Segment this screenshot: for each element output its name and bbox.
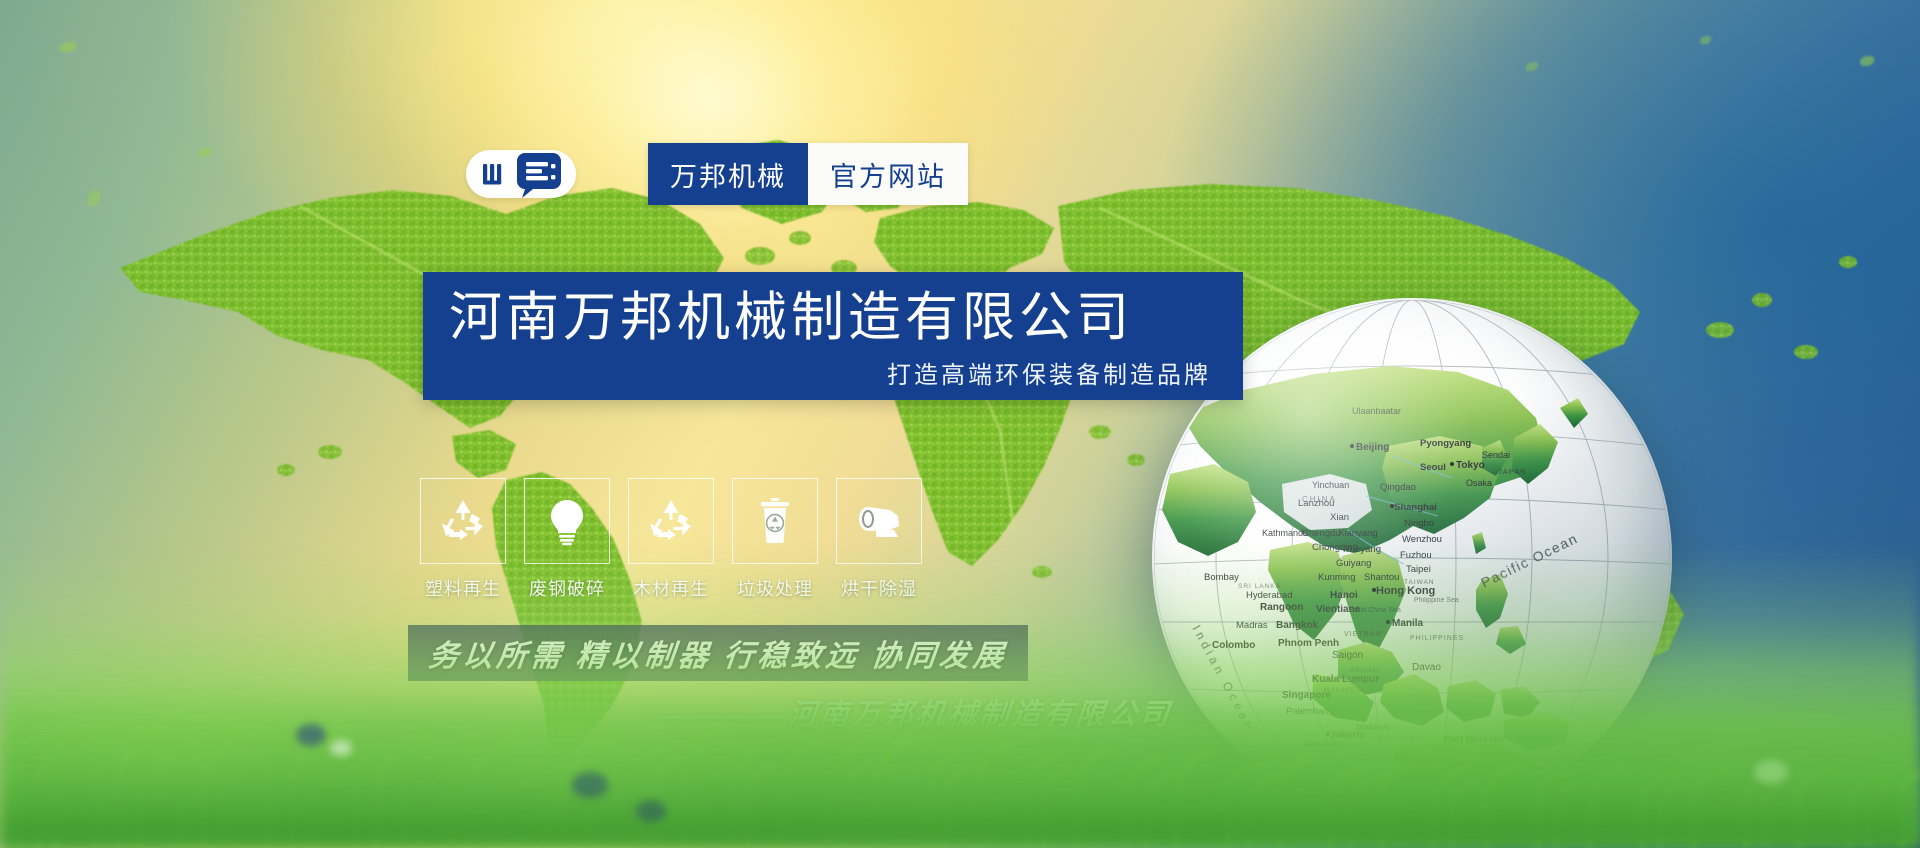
svg-text:Shanghai: Shanghai <box>1394 502 1437 513</box>
site-logo[interactable] <box>466 150 576 198</box>
bokeh-dot <box>330 740 352 756</box>
bokeh-dot <box>296 724 326 746</box>
hero-banner: CHINA Ulaanbaatar Beijing Pyongyang Seou… <box>0 0 1920 848</box>
svg-text:Qingdao: Qingdao <box>1380 482 1416 493</box>
bokeh-dot <box>1754 760 1788 784</box>
page-subtitle: 打造高端环保装备制造品牌 <box>423 347 1243 390</box>
svg-text:Sendai: Sendai <box>1482 450 1510 460</box>
top-navbar[interactable]: 万邦机械 官方网站 <box>648 143 968 205</box>
svg-text:Yinchuan: Yinchuan <box>1312 480 1349 490</box>
page-title: 河南万邦机械制造有限公司 <box>423 272 1243 347</box>
svg-text:JAPAN: JAPAN <box>1498 467 1527 476</box>
hero-title-panel: 河南万邦机械制造有限公司 打造高端环保装备制造品牌 <box>423 272 1243 400</box>
speech-bubble-e-icon <box>513 151 563 199</box>
svg-text:Tokyo: Tokyo <box>1456 460 1485 471</box>
svg-text:Ulaanbaatar: Ulaanbaatar <box>1352 406 1401 416</box>
w-logo-icon <box>479 157 513 191</box>
svg-text:Lanzhou: Lanzhou <box>1298 498 1334 509</box>
bokeh-dot <box>636 800 666 822</box>
bokeh-dot <box>572 772 608 798</box>
svg-text:Seoul: Seoul <box>1420 462 1446 473</box>
nav-tab-official-site[interactable]: 官方网站 <box>808 143 968 205</box>
svg-text:Pyongyang: Pyongyang <box>1420 438 1471 449</box>
svg-text:Osaka: Osaka <box>1466 478 1492 488</box>
svg-text:Beijing: Beijing <box>1356 442 1389 453</box>
grass-deep-shadow <box>0 688 1920 848</box>
nav-tab-company[interactable]: 万邦机械 <box>648 143 808 205</box>
